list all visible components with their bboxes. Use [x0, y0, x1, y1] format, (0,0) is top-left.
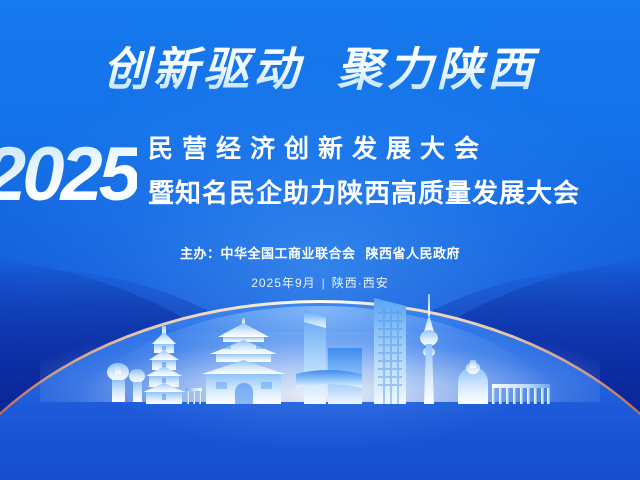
city-wall-colonnade-right — [492, 384, 550, 404]
tv-tower-icon — [420, 294, 438, 404]
poster-meta: 主办：中华全国工商业联合会陕西省人民政府 2025年9月|陕西·西安 — [0, 243, 640, 293]
slogan-left: 创新驱动 — [103, 42, 303, 96]
city-wall-colonnade-left — [186, 388, 202, 404]
ancient-bell-icon — [458, 360, 488, 404]
slogan-calligraphy: 创新驱动聚力陕西 — [0, 46, 640, 92]
modern-tower-angled-icon — [304, 310, 326, 404]
xian-skyline-illustration — [90, 288, 550, 408]
gate-arch — [235, 383, 253, 404]
host-organization-2: 陕西省人民政府 — [366, 246, 461, 261]
slogan-right: 聚力陕西 — [337, 42, 537, 96]
conference-poster: 创新驱动聚力陕西 2025 民营经济创新发展大会 暨知名民企助力陕西高质量发展大… — [0, 0, 640, 480]
year-2025: 2025 — [0, 126, 137, 224]
event-date: 2025年9月 — [251, 276, 315, 290]
date-separator: | — [316, 276, 332, 290]
high-rise-grid-tower-icon — [374, 298, 406, 404]
host-label: 主办： — [180, 246, 221, 261]
main-title-line-2: 暨知名民企助力陕西高质量发展大会 — [148, 170, 640, 216]
date-location-line: 2025年9月|陕西·西安 — [0, 273, 640, 293]
host-line: 主办：中华全国工商业联合会陕西省人民政府 — [0, 243, 640, 265]
title-block: 2025 民营经济创新发展大会 暨知名民企助力陕西高质量发展大会 — [0, 128, 640, 226]
main-title-line-1: 民营经济创新发展大会 — [148, 128, 640, 170]
title-lines: 民营经济创新发展大会 暨知名民企助力陕西高质量发展大会 — [148, 128, 640, 216]
small-pavilion-icon — [107, 363, 145, 402]
skyline-svg — [90, 288, 550, 408]
event-location: 陕西·西安 — [332, 276, 389, 290]
host-organization-1: 中华全国工商业联合会 — [220, 246, 355, 261]
